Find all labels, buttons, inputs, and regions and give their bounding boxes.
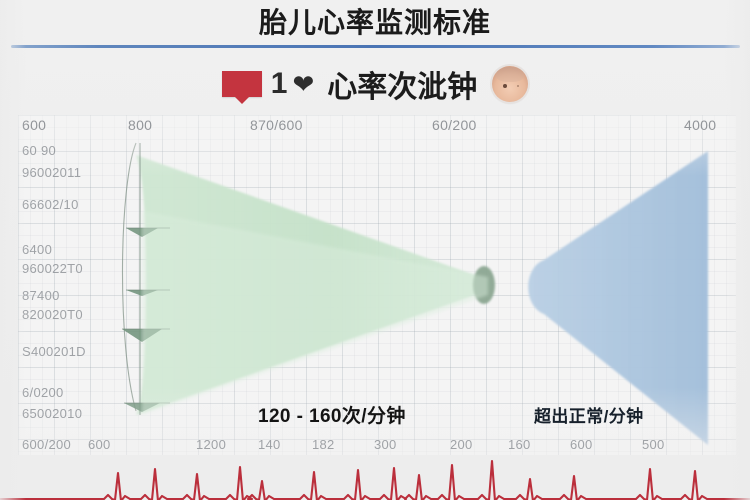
top-axis-tick-4: 4000 (684, 117, 716, 133)
left-axis-tick-3: 6400 (22, 242, 52, 257)
left-axis-tick-1: 96002011 (22, 165, 81, 180)
left-axis-tick-8: 6/0200 (22, 385, 64, 400)
page-title: 胎儿心率监测标准 (0, 4, 750, 42)
baby-face-icon (492, 66, 528, 102)
bottom-axis-tick-4: 182 (312, 437, 335, 452)
top-axis-tick-0: 600 (22, 117, 46, 133)
left-axis-tick-7: S400201D (22, 344, 86, 359)
ecg-strip (0, 455, 750, 500)
abnormal-range-label: 超出正常/分钟 (534, 402, 644, 427)
heart-icon: ❤ (292, 71, 314, 97)
top-axis-tick-2: 870/600 (250, 117, 303, 133)
bottom-axis-tick-7: 160 (508, 437, 531, 452)
bottom-axis-tick-0: 600/200 (22, 437, 71, 452)
subtitle-text: 心率次泚钟 (327, 62, 477, 106)
normal-range-label: 120 - 160次/分钟 (258, 401, 406, 428)
chart-area: 120 - 160次/分钟 超出正常/分钟 (18, 115, 736, 455)
bottom-axis-tick-3: 140 (258, 437, 281, 452)
subtitle-number: 1 (271, 69, 288, 99)
bottom-axis-tick-8: 600 (570, 437, 593, 452)
bottom-axis-tick-5: 300 (374, 437, 397, 452)
abnormal-range-region (528, 151, 708, 445)
left-axis-tick-9: 65002010 (22, 406, 82, 421)
title-divider (11, 45, 740, 48)
left-axis-tick-0: 60 90 (22, 143, 56, 158)
left-bracket-curve (122, 143, 136, 411)
bottom-axis-tick-9: 500 (642, 437, 665, 452)
left-axis-tick-2: 66602/10 (22, 197, 79, 212)
top-axis-tick-3: 60/200 (432, 117, 477, 133)
left-axis-tick-5: 87400 (22, 288, 60, 303)
subtitle-row: 1 ❤ 心率次泚钟 (0, 60, 750, 108)
top-axis-tick-1: 800 (128, 117, 152, 133)
ecg-trace (0, 455, 750, 500)
left-axis-tick-6: 820020T0 (22, 307, 83, 322)
bottom-axis-tick-1: 600 (88, 437, 111, 452)
left-axis-tick-4: 960022T0 (22, 261, 83, 276)
infographic-root: 胎儿心率监测标准 1 ❤ 心率次泚钟 (0, 0, 750, 500)
bottom-axis-tick-2: 1200 (196, 437, 226, 452)
red-flag-icon (222, 71, 262, 97)
bottom-axis-tick-6: 200 (450, 437, 473, 452)
